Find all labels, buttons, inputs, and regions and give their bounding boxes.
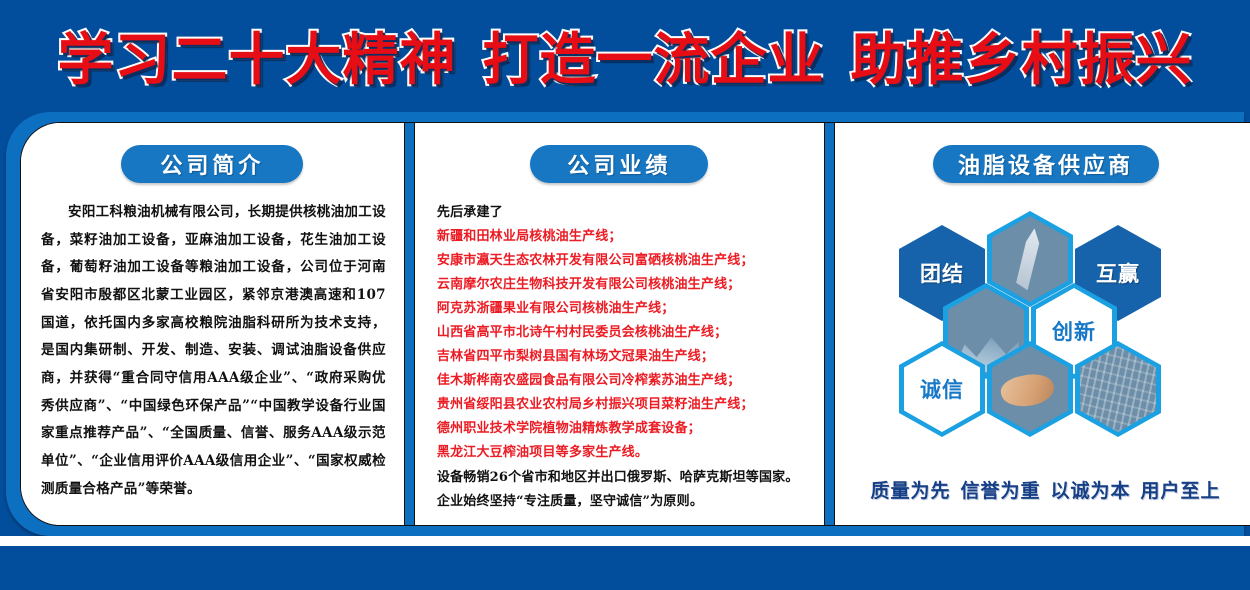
hexagon-integrity-label: 诚信	[920, 374, 964, 404]
performance-list: 先后承建了 新疆和田林业局核桃油生产线； 安康市瀛天生态农林开发有限公司富硒核桃…	[437, 201, 810, 514]
supplier-slogan: 质量为先信誉为重以诚为本用户至上	[835, 476, 1250, 503]
hexagon-unity-label: 团结	[920, 258, 964, 288]
project-item: 佳木斯桦南农盛园食品有限公司冷榨紫苏油生产线；	[437, 369, 810, 393]
page-title: 学习二十大精神打造一流企业助推乡村振兴	[58, 15, 1193, 96]
aircraft-carrier-photo	[992, 216, 1068, 302]
column-divider-2	[824, 123, 835, 525]
project-item: 德州职业技术学院植物油精炼教学成套设备；	[437, 417, 810, 441]
title-part-3: 助推乡村振兴	[851, 28, 1193, 93]
column-supplier: 油脂设备供应商 团结 互赢	[835, 123, 1250, 525]
performance-lead: 先后承建了	[437, 201, 810, 225]
office-building-photo	[1080, 346, 1156, 432]
heading-company-performance: 公司业绩	[530, 145, 708, 183]
column-company-performance: 公司业绩 先后承建了 新疆和田林业局核桃油生产线； 安康市瀛天生态农林开发有限公…	[415, 123, 824, 525]
company-profile-body: 安阳工科粮油机械有限公司，长期提供核桃油加工设备，菜籽油加工设备，亚麻油加工设备…	[41, 199, 386, 503]
performance-tail: 企业始终坚持“专注质量，坚守诚信”为原则。	[437, 490, 810, 514]
handshake-photo	[992, 346, 1068, 432]
project-item: 吉林省四平市梨树县国有林场文冠果油生产线；	[437, 345, 810, 369]
slogan-part-1: 质量为先	[870, 480, 950, 502]
content-frame-border: 公司简介 安阳工科粮油机械有限公司，长期提供核桃油加工设备，菜籽油加工设备，亚麻…	[6, 112, 1244, 536]
slogan-part-2: 信誉为重	[960, 480, 1040, 502]
slogan-part-3: 以诚为本	[1051, 480, 1131, 502]
hexagon-innovation-label: 创新	[1052, 316, 1096, 346]
columns-layout: 公司简介 安阳工科粮油机械有限公司，长期提供核桃油加工设备，菜籽油加工设备，亚麻…	[21, 123, 1250, 525]
title-part-2: 打造一流企业	[483, 28, 825, 93]
heading-supplier: 油脂设备供应商	[933, 145, 1159, 183]
hexagon-mutual-win-label: 互赢	[1096, 258, 1140, 288]
footer-white-gap	[0, 536, 1250, 546]
slogan-part-4: 用户至上	[1141, 480, 1221, 502]
project-item: 阿克苏浙疆果业有限公司核桃油生产线；	[437, 297, 810, 321]
hexagon-cluster: 团结 互赢	[835, 191, 1250, 441]
column-divider-1	[404, 123, 415, 525]
project-item: 云南摩尔农庄生物科技开发有限公司核桃油生产线；	[437, 273, 810, 297]
footer-bar	[0, 546, 1250, 590]
title-part-1: 学习二十大精神	[58, 28, 457, 93]
project-item: 山西省高平市北诗午村村民委员会核桃油生产线；	[437, 321, 810, 345]
heading-company-profile: 公司简介	[121, 145, 303, 183]
project-item: 新疆和田林业局核桃油生产线；	[437, 225, 810, 249]
content-frame: 公司简介 安阳工科粮油机械有限公司，长期提供核桃油加工设备，菜籽油加工设备，亚麻…	[20, 122, 1250, 526]
poster-title-band: 学习二十大精神打造一流企业助推乡村振兴	[0, 0, 1250, 110]
project-item: 贵州省绥阳县农业农村局乡村振兴项目菜籽油生产线；	[437, 393, 810, 417]
column-company-profile: 公司简介 安阳工科粮油机械有限公司，长期提供核桃油加工设备，菜籽油加工设备，亚麻…	[21, 123, 404, 525]
project-item: 安康市瀛天生态农林开发有限公司富硒核桃油生产线；	[437, 249, 810, 273]
performance-tail: 设备畅销26个省市和地区并出口俄罗斯、哈萨克斯坦等国家。	[437, 466, 810, 490]
poster-canvas: 学习二十大精神打造一流企业助推乡村振兴 公司简介 安阳工科粮油机械有限公司，长期…	[0, 0, 1250, 590]
project-item: 黑龙江大豆榨油项目等多家生产线。	[437, 441, 810, 465]
